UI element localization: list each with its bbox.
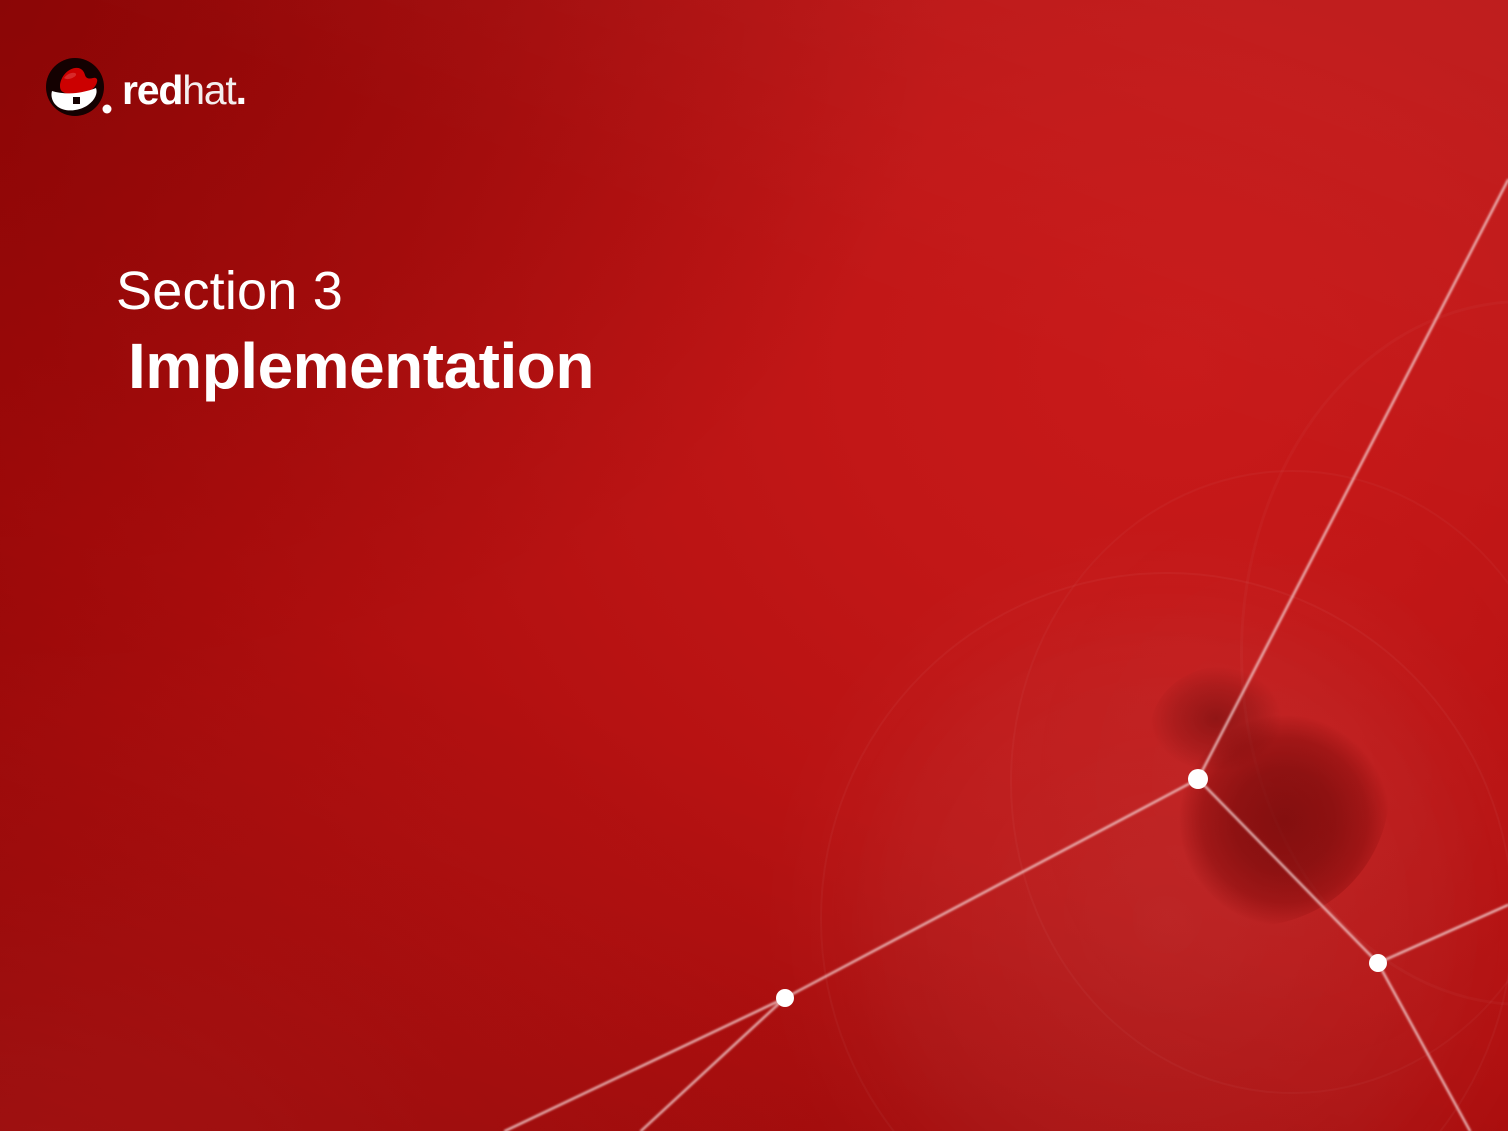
logo-word-red: red	[122, 67, 182, 113]
edge-left-to-south-b	[641, 998, 785, 1131]
section-eyebrow: Section 3	[116, 262, 594, 320]
node-left	[776, 989, 794, 1007]
section-title-block: Section 3 Implementation	[116, 262, 594, 401]
node-hub	[1188, 769, 1208, 789]
section-headline: Implementation	[128, 332, 594, 401]
red-hat-shadowman-icon	[44, 56, 112, 118]
edge-hub-to-top-right	[1198, 180, 1508, 779]
slide-canvas: redhat. Section 3 Implementation	[0, 0, 1508, 1131]
edge-left-to-south-a	[505, 998, 785, 1131]
red-hat-wordmark: redhat.	[122, 70, 246, 111]
edge-lower-right-to-south	[1378, 963, 1470, 1131]
logo-word-hat: hat	[182, 67, 235, 113]
network-edges	[505, 180, 1508, 1131]
edge-lower-right-to-east	[1378, 905, 1508, 963]
network-node-graphic	[0, 0, 1508, 1131]
red-hat-logo: redhat.	[44, 56, 246, 118]
logo-word-dot: .	[236, 67, 246, 113]
edge-hub-to-left	[785, 779, 1198, 998]
network-nodes	[776, 769, 1387, 1007]
node-lower-right	[1369, 954, 1387, 972]
edge-hub-to-lower-right	[1198, 779, 1378, 963]
